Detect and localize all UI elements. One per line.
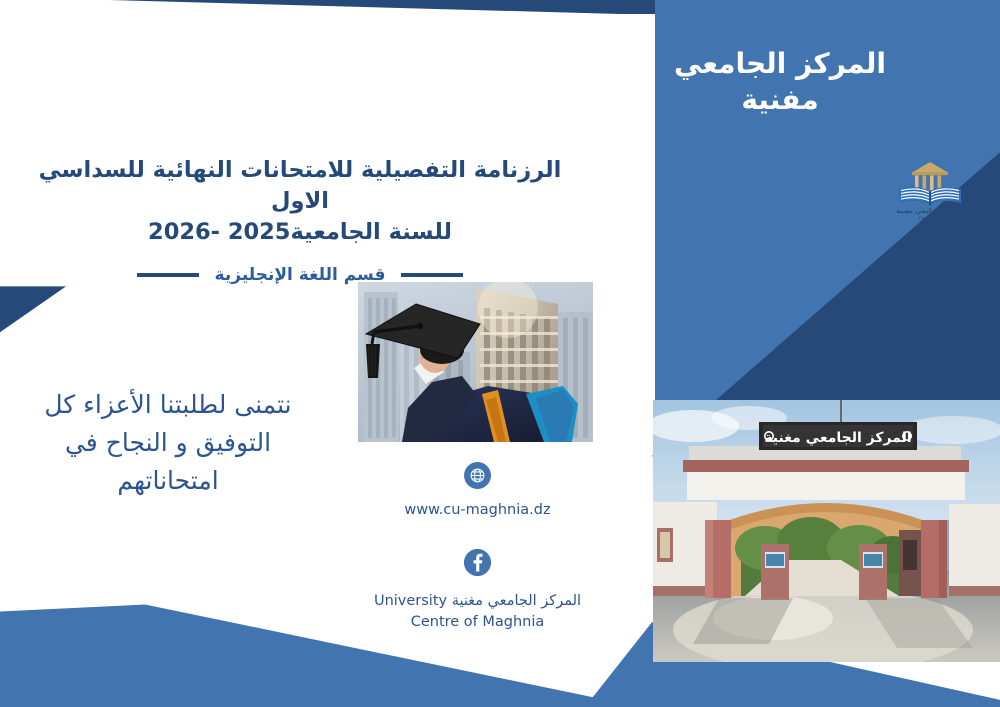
graduation-cap-photo [358, 282, 593, 442]
facebook-page-name[interactable]: المركز الجامعي مغنية University Centre o… [330, 591, 625, 633]
title-line-1: الرزنامة التفصيلية للامتحانات النهائية ل… [39, 157, 562, 214]
divider-rule-right [401, 273, 463, 277]
headline-block: الرزنامة التفصيلية للامتحانات النهائية ل… [10, 155, 590, 285]
wishes-message: نتمنى لطلبتنا الأعزاء كل التوفيق و النجا… [18, 386, 318, 500]
globe-icon [464, 462, 491, 489]
facebook-line-2: Centre of Maghnia [411, 614, 545, 630]
divider-rule-left [137, 273, 199, 277]
university-gate-photo: المركز الجامعي مغنية [653, 400, 1000, 662]
poster-canvas: المركز الجامعي مفنية [0, 0, 1000, 707]
page-title: الرزنامة التفصيلية للامتحانات النهائية ل… [10, 155, 590, 248]
svg-text:المركز الجامعي مغنية: المركز الجامعي مغنية [896, 207, 963, 215]
facebook-row[interactable]: المركز الجامعي مغنية University Centre o… [330, 549, 625, 633]
website-row[interactable]: www.cu-maghnia.dz [330, 462, 625, 521]
facebook-line-1: المركز الجامعي مغنية University [374, 593, 581, 609]
title-line-2: للسنة الجامعية2025 -2026 [148, 219, 452, 245]
svg-text:Centre of: Centre of [918, 216, 941, 222]
website-url[interactable]: www.cu-maghnia.dz [330, 500, 625, 521]
university-centre-logo: المركز الجامعي مغنية Centre of [893, 155, 967, 223]
contact-block: www.cu-maghnia.dz المركز الجامعي مغنية U… [330, 462, 625, 633]
institution-name: المركز الجامعي مفنية [660, 46, 900, 118]
facebook-icon [464, 549, 491, 576]
